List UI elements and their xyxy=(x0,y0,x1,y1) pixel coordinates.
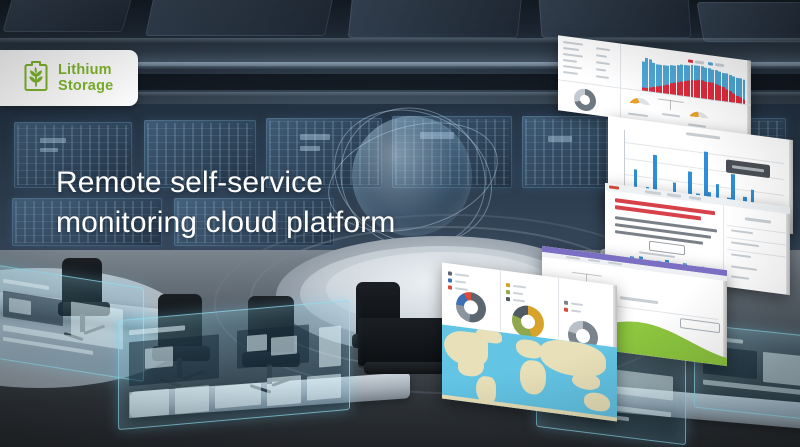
tree-connector xyxy=(572,272,602,277)
divider xyxy=(620,43,621,118)
panel-title xyxy=(745,217,771,223)
legend-swatch xyxy=(506,297,510,302)
panel-row xyxy=(731,241,759,247)
legend-swatch xyxy=(448,271,452,276)
nav-row xyxy=(596,54,607,57)
battery-leaf-icon xyxy=(22,59,50,98)
landmass-asia xyxy=(540,337,606,380)
panel-row xyxy=(731,265,757,270)
legend-label xyxy=(571,302,583,306)
page-title: Remote self-service monitoring cloud pla… xyxy=(56,163,476,243)
legend-swatch xyxy=(564,308,568,313)
legend-label xyxy=(455,280,466,283)
nav-row xyxy=(596,68,606,71)
panel-row xyxy=(731,253,751,258)
brand-name-line1: Lithium xyxy=(58,62,112,78)
panel-row xyxy=(731,229,753,234)
gauge-label xyxy=(628,113,648,118)
legend-label xyxy=(513,285,526,289)
page-title-line2: monitoring cloud platform xyxy=(56,203,476,243)
gauge-chart xyxy=(628,97,652,112)
card-edge xyxy=(786,207,790,296)
nav-row xyxy=(596,61,610,65)
legend-label xyxy=(455,273,469,277)
donut-chart xyxy=(456,290,486,324)
legend-swatch xyxy=(448,285,452,290)
hologram-panel-center xyxy=(118,300,350,430)
brand-name: Lithium Storage xyxy=(58,62,138,94)
nav-row xyxy=(596,47,610,51)
donut-chart xyxy=(574,87,596,112)
legend-swatch xyxy=(506,283,510,288)
legend-label xyxy=(513,299,525,303)
brand-logo-badge[interactable]: Lithium Storage xyxy=(0,50,138,106)
landmass-africa xyxy=(520,359,546,396)
kpi-bracket xyxy=(670,100,671,110)
legend-label xyxy=(455,287,468,291)
nav-row xyxy=(563,47,579,51)
legend-swatch xyxy=(688,59,693,63)
section-title xyxy=(620,296,658,304)
legend-swatch xyxy=(708,62,713,66)
legend-swatch xyxy=(564,301,568,306)
chart-title xyxy=(686,132,720,139)
bar-segment xyxy=(743,100,746,104)
nav-row xyxy=(563,59,577,63)
gauge-chart xyxy=(688,110,710,124)
legend-label xyxy=(571,309,581,312)
donut-and-map-dashboard[interactable] xyxy=(442,262,617,421)
page-title-line1: Remote self-service xyxy=(56,163,476,203)
promo-banner: Lithium Storage Remote self-service moni… xyxy=(0,0,800,447)
nav-row xyxy=(596,75,609,79)
stacked-bar-chart xyxy=(642,56,746,104)
brand-name-line2: Storage xyxy=(58,78,113,94)
landmass-australia xyxy=(584,391,610,412)
panel-row xyxy=(731,275,749,279)
nav-row xyxy=(563,41,583,46)
legend-swatch xyxy=(506,290,510,295)
card-edge xyxy=(747,60,751,136)
gauge-label xyxy=(662,113,680,117)
divider xyxy=(558,278,559,338)
landmass-europe xyxy=(516,338,542,359)
kpi-bracket xyxy=(658,98,684,102)
divider xyxy=(500,270,501,330)
nav-row xyxy=(563,71,578,75)
legend-swatch xyxy=(448,278,452,283)
nav-row xyxy=(563,53,583,58)
legend-label xyxy=(513,292,523,295)
nav-row xyxy=(563,65,582,70)
